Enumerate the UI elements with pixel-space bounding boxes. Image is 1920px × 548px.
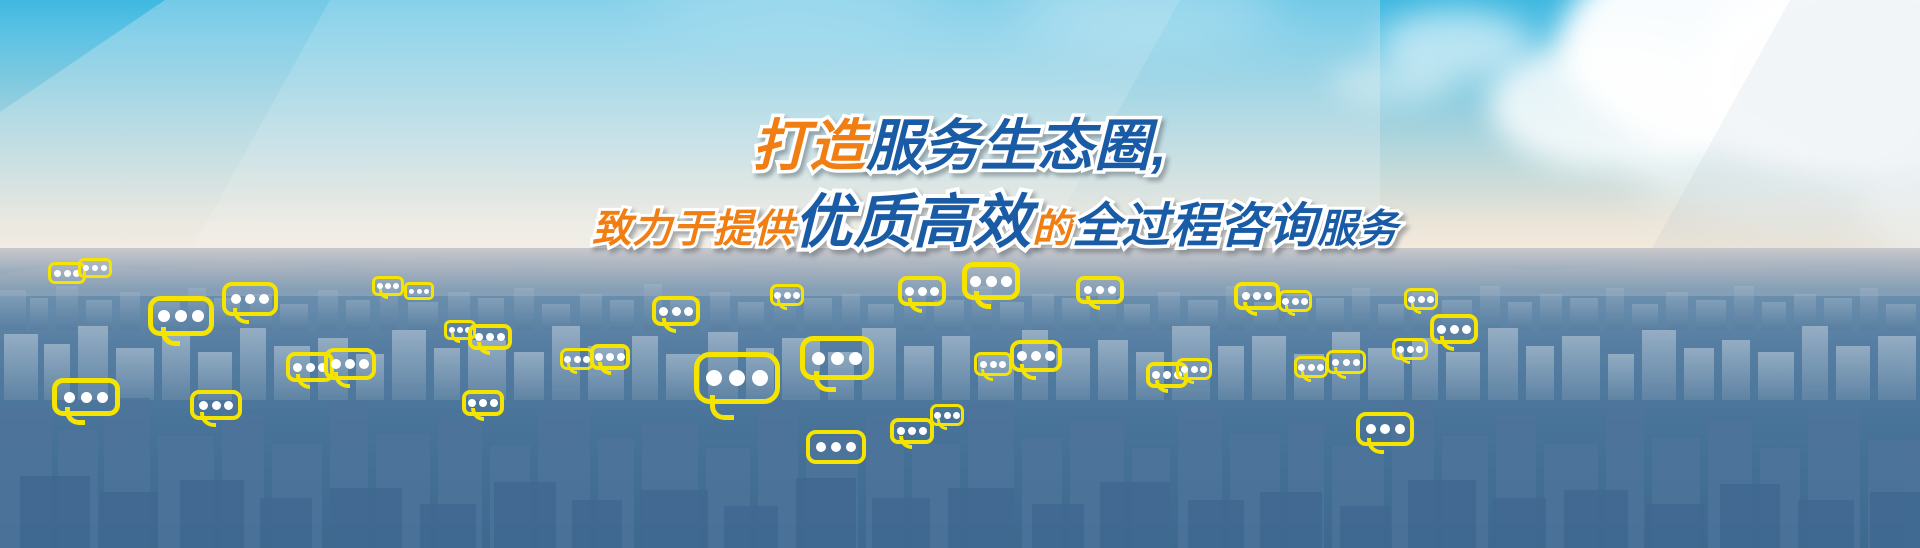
speech-bubble [148,296,214,336]
speech-bubble-dot [486,333,494,341]
speech-bubble-dot [706,370,722,386]
aerial-cityscape [0,248,1920,548]
speech-bubble [930,404,964,426]
speech-bubble-dot [97,392,108,403]
speech-bubble-dot [849,352,862,365]
speech-bubble-dot [1416,346,1423,353]
speech-bubble-dot [64,270,71,277]
speech-bubble-dot [672,307,681,316]
speech-bubble-dot [1017,351,1027,361]
speech-bubble-dot [212,401,221,410]
speech-bubble-dot [1292,298,1299,305]
speech-bubble-dot [1317,364,1324,371]
speech-bubble-dot [564,356,571,363]
speech-bubble [974,352,1012,376]
speech-bubble [806,430,866,464]
speech-bubble-dot [101,265,107,271]
speech-bubble-dot [1450,325,1459,334]
speech-bubble-dot [1031,351,1041,361]
speech-bubble-dot [816,442,826,452]
speech-bubble [404,282,434,300]
speech-bubble-dot [595,353,603,361]
speech-bubble-dot [897,427,905,435]
speech-bubble-dot [83,265,89,271]
speech-bubble-dot [846,442,856,452]
speech-bubble-dot [245,294,255,304]
speech-bubble [1010,340,1062,372]
speech-bubble-dot [919,427,927,435]
speech-bubble [1326,350,1366,374]
speech-bubble [1294,356,1328,378]
speech-bubble-dot [490,399,498,407]
speech-bubble-dot [1084,286,1092,294]
speech-bubble-dot [1152,371,1160,379]
speech-bubble [1278,290,1312,312]
speech-bubble-dot [774,292,781,299]
speech-bubble-dot [1298,364,1305,371]
speech-bubble-dot [908,427,916,435]
speech-bubble-dot [784,292,791,299]
speech-bubble [1234,282,1280,310]
speech-bubble-dot [81,392,92,403]
speech-bubble-dot [231,294,241,304]
speech-bubble-dot [1282,298,1289,305]
speech-bubble-dot [574,356,581,363]
speech-bubble-dot [1418,296,1425,303]
speech-bubble-dot [990,361,997,368]
speech-bubble [1176,358,1212,380]
speech-bubble-dot [1366,424,1376,434]
speech-bubble-dot [158,310,170,322]
speech-bubble [962,262,1020,300]
speech-bubble-dot [793,292,800,299]
speech-bubble-dot [1108,286,1116,294]
speech-bubble-dot [54,270,61,277]
speech-bubble-dot [345,359,355,369]
speech-bubble-dot [944,412,951,419]
speech-bubble [190,390,242,420]
speech-bubble-dot [986,276,997,287]
speech-bubble [694,352,780,404]
speech-bubble-dot [812,352,825,365]
speech-bubble-dot [1242,292,1250,300]
speech-bubble-dot [1181,366,1188,373]
speech-bubble-dot [934,412,941,419]
speech-bubble-dot [1045,351,1055,361]
speech-bubble [78,258,112,278]
speech-bubble-dot [729,370,745,386]
speech-bubble-dot [224,401,233,410]
speech-bubble [652,296,700,326]
speech-bubble-dot [479,399,487,407]
speech-bubble [52,378,120,416]
speech-bubble-dot [359,359,369,369]
speech-bubble-dot [1407,346,1414,353]
speech-bubble-dot [293,363,302,372]
city-horizon-haze [0,248,1920,290]
speech-bubble [1076,276,1124,304]
speech-bubble-dot [424,289,429,294]
speech-bubble-dot [475,333,483,341]
speech-bubble [372,276,404,296]
speech-bubble-dot [64,392,75,403]
speech-bubble-dot [606,353,614,361]
speech-bubble-dot [497,333,505,341]
speech-bubble-dot [1353,359,1360,366]
speech-bubble-dot [1343,359,1350,366]
speech-bubble-dot [831,442,841,452]
speech-bubble [1392,338,1428,360]
speech-bubble-dot [752,370,768,386]
speech-bubble-dot [199,401,208,410]
speech-bubble-dot [1380,424,1390,434]
speech-bubble-dot [468,399,476,407]
speech-bubble-dot [1001,276,1012,287]
speech-bubble-dot [1408,296,1415,303]
speech-bubble [800,336,874,380]
speech-bubble-dot [617,353,625,361]
speech-bubble-dot [1462,325,1471,334]
speech-bubble-dot [1427,296,1434,303]
speech-bubble [324,348,376,380]
speech-bubble-dot [583,356,590,363]
cityscape-buildings [0,248,1920,548]
speech-bubble-dot [918,287,927,296]
speech-bubble-dot [92,265,98,271]
speech-bubble-dot [980,361,987,368]
speech-bubble [770,284,804,306]
hero-banner: 打造服务生态圈, 致力于提供优质高效的全过程咨询服务 [0,0,1920,548]
speech-bubble-dot [259,294,269,304]
speech-bubble-dot [1437,325,1446,334]
speech-bubble-dot [659,307,668,316]
speech-bubble-dot [970,276,981,287]
speech-bubble-dot [175,310,187,322]
speech-bubble-dot [930,287,939,296]
speech-bubble [1356,412,1414,446]
speech-bubble-dot [831,352,844,365]
speech-bubble-dot [1200,366,1207,373]
speech-bubble-dot [306,363,315,372]
speech-bubble-dot [1191,366,1198,373]
speech-bubble-dot [1397,346,1404,353]
speech-bubble-dot [1395,424,1405,434]
speech-bubble [590,344,630,370]
speech-bubble [1404,288,1438,310]
speech-bubble-dot [409,289,414,294]
speech-bubble-dot [1332,359,1339,366]
speech-bubble-dot [331,359,341,369]
speech-bubble-dot [1301,298,1308,305]
speech-bubble [1430,314,1478,344]
speech-bubble [468,324,512,350]
speech-bubble [222,282,278,316]
speech-bubble-dot [192,310,204,322]
speech-bubble-dot [1253,292,1261,300]
speech-bubble-dot [999,361,1006,368]
speech-bubble-dot [1163,371,1171,379]
speech-bubble-dot [684,307,693,316]
speech-bubble-dot [953,412,960,419]
speech-bubble-dot [905,287,914,296]
speech-bubble [898,276,946,306]
speech-bubble [560,348,594,370]
speech-bubble-dot [1264,292,1272,300]
speech-bubble-dot [1308,364,1315,371]
speech-bubble [890,418,934,444]
speech-bubble-dot [393,283,399,289]
speech-bubble-dot [1096,286,1104,294]
speech-bubble-dot [417,289,422,294]
speech-bubble [462,390,504,416]
